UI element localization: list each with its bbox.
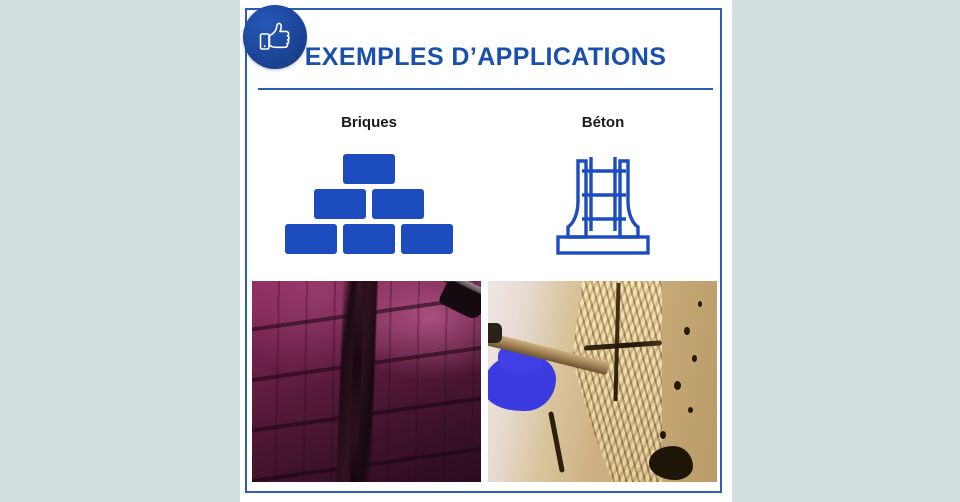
brick-row-top — [343, 154, 395, 184]
reinforced-concrete-footing-icon — [544, 137, 662, 269]
section-briques: Briques — [252, 104, 486, 269]
concrete-pock — [684, 327, 690, 335]
thumbs-up-badge — [243, 5, 307, 69]
brick — [343, 154, 395, 184]
concrete-void — [649, 446, 693, 480]
brick — [314, 189, 366, 219]
brick — [401, 224, 453, 254]
section-beton: Béton — [486, 104, 720, 269]
brick-wall-icon — [285, 137, 453, 269]
pressure-lance-head — [488, 323, 502, 343]
brick-wall-hydrodemolition-photo — [252, 281, 481, 482]
concrete-crack — [548, 411, 565, 473]
concrete-hydrodemolition-photo — [488, 281, 717, 482]
brick-row-middle — [314, 189, 424, 219]
concrete-pock — [660, 431, 666, 439]
concrete-pock — [688, 407, 693, 413]
wall-crack — [336, 281, 377, 482]
photos-row — [252, 281, 720, 482]
page-title: EXEMPLES D’APPLICATIONS — [305, 43, 667, 72]
brick — [285, 224, 337, 254]
concrete-pock — [698, 301, 702, 307]
brick-row-bottom — [285, 224, 453, 254]
title-row: EXEMPLES D’APPLICATIONS — [258, 36, 713, 78]
section-label-briques: Briques — [341, 114, 397, 131]
brick — [343, 224, 395, 254]
title-divider — [258, 88, 713, 90]
icon-sections: Briques Béton — [252, 104, 720, 269]
thumbs-up-icon — [255, 17, 295, 57]
section-label-beton: Béton — [582, 114, 625, 131]
concrete-pock — [692, 355, 697, 362]
concrete-pock — [674, 381, 681, 390]
brick — [372, 189, 424, 219]
